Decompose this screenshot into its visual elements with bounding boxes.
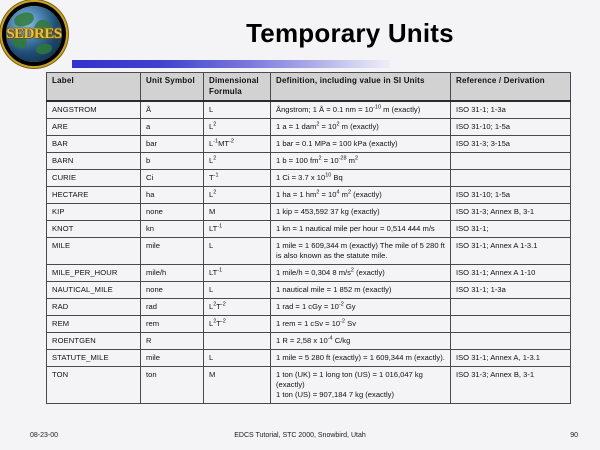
cell-definition: 1 mile = 1 609,344 m (exactly) The mile … [271, 238, 451, 265]
table-header-row: Label Unit Symbol Dimensional Formula De… [47, 73, 571, 102]
cell-definition: 1 rem = 1 cSv = 10-2 Sv [271, 316, 451, 333]
cell-reference: ISO 31-1; Annex A, 1-3.1 [451, 350, 571, 367]
cell-label: REM [47, 316, 141, 333]
cell-reference: ISO 31-10; 1-5a [451, 187, 571, 204]
cell-dimensional-formula: L2 [204, 119, 271, 136]
table-row: STATUTE_MILEmileL1 mile = 5 280 ft (exac… [47, 350, 571, 367]
cell-unit-symbol: ton [141, 367, 204, 404]
cell-definition: 1 bar = 0.1 MPa = 100 kPa (exactly) [271, 136, 451, 153]
table-row: REMremL2T-21 rem = 1 cSv = 10-2 Sv [47, 316, 571, 333]
cell-unit-symbol: R [141, 333, 204, 350]
footer-center-text: EDCS Tutorial, STC 2000, Snowbird, Utah [0, 432, 600, 439]
cell-reference [451, 316, 571, 333]
cell-definition: 1 kip = 453,592 37 kg (exactly) [271, 204, 451, 221]
table-row: NAUTICAL_MILEnoneL1 nautical mile = 1 85… [47, 282, 571, 299]
column-header-definition: Definition, including value in SI Units [271, 73, 451, 102]
cell-dimensional-formula: M [204, 204, 271, 221]
cell-definition: 1 nautical mile = 1 852 m (exactly) [271, 282, 451, 299]
cell-unit-symbol: none [141, 282, 204, 299]
cell-unit-symbol: none [141, 204, 204, 221]
cell-dimensional-formula: L [204, 282, 271, 299]
cell-reference [451, 170, 571, 187]
cell-label: TON [47, 367, 141, 404]
cell-dimensional-formula: L [204, 350, 271, 367]
cell-reference: ISO 31-1; Annex A 1-3.1 [451, 238, 571, 265]
cell-label: ARE [47, 119, 141, 136]
cell-dimensional-formula: M [204, 367, 271, 404]
cell-label: RAD [47, 299, 141, 316]
cell-label: STATUTE_MILE [47, 350, 141, 367]
table-row: HECTAREhaL21 ha = 1 hm2 = 104 m2 (exactl… [47, 187, 571, 204]
cell-definition: 1 a = 1 dam2 = 102 m (exactly) [271, 119, 451, 136]
cell-dimensional-formula: L2 [204, 153, 271, 170]
table-row: AREaL21 a = 1 dam2 = 102 m (exactly)ISO … [47, 119, 571, 136]
logo-text: SEDRES [6, 26, 62, 43]
table-row: BARNbL21 b = 100 fm2 = 10-28 m2 [47, 153, 571, 170]
cell-reference [451, 333, 571, 350]
table-row: ROENTGENR1 R = 2,58 x 10-4 C/kg [47, 333, 571, 350]
title-divider [72, 60, 390, 68]
globe-landmass [35, 43, 52, 56]
table-row: CURIECiT-11 Ci = 3.7 x 1010 Bq [47, 170, 571, 187]
cell-unit-symbol: bar [141, 136, 204, 153]
cell-dimensional-formula: L2T-2 [204, 316, 271, 333]
cell-unit-symbol: rad [141, 299, 204, 316]
cell-reference: ISO 31-1; 1-3a [451, 101, 571, 119]
cell-unit-symbol: ha [141, 187, 204, 204]
cell-dimensional-formula: L-1MT-2 [204, 136, 271, 153]
cell-unit-symbol: Å [141, 101, 204, 119]
slide: SEDRES Temporary Units Label Unit Symbol… [0, 0, 600, 450]
cell-definition: 1 mile/h = 0,304 8 m/s2 (exactly) [271, 265, 451, 282]
table-row: RADradL2T-21 rad = 1 cGy = 10-2 Gy [47, 299, 571, 316]
cell-dimensional-formula: L2 [204, 187, 271, 204]
cell-label: BARN [47, 153, 141, 170]
units-table-wrapper: Label Unit Symbol Dimensional Formula De… [46, 72, 570, 404]
table-row: TONtonM1 ton (UK) = 1 long ton (US) = 1 … [47, 367, 571, 404]
table-row: MILEmileL1 mile = 1 609,344 m (exactly) … [47, 238, 571, 265]
cell-reference [451, 299, 571, 316]
table-row: BARbarL-1MT-21 bar = 0.1 MPa = 100 kPa (… [47, 136, 571, 153]
table-body: ANGSTROMÅLÅngstrom; 1 Å = 0.1 nm = 10-10… [47, 101, 571, 404]
cell-definition: 1 R = 2,58 x 10-4 C/kg [271, 333, 451, 350]
cell-label: KIP [47, 204, 141, 221]
table-row: ANGSTROMÅLÅngstrom; 1 Å = 0.1 nm = 10-10… [47, 101, 571, 119]
cell-dimensional-formula: L2T-2 [204, 299, 271, 316]
cell-unit-symbol: rem [141, 316, 204, 333]
cell-unit-symbol: mile [141, 350, 204, 367]
cell-label: MILE [47, 238, 141, 265]
cell-reference: ISO 31-1; [451, 221, 571, 238]
cell-reference: ISO 31-3; Annex B, 3-1 [451, 204, 571, 221]
cell-unit-symbol: mile [141, 238, 204, 265]
cell-definition: 1 ton (UK) = 1 long ton (US) = 1 016,047… [271, 367, 451, 404]
cell-definition: 1 ha = 1 hm2 = 104 m2 (exactly) [271, 187, 451, 204]
cell-unit-symbol: b [141, 153, 204, 170]
cell-reference: ISO 31-1; Annex A 1-10 [451, 265, 571, 282]
cell-dimensional-formula: L [204, 238, 271, 265]
cell-label: ROENTGEN [47, 333, 141, 350]
cell-label: ANGSTROM [47, 101, 141, 119]
page-title: Temporary Units [150, 18, 550, 49]
cell-label: NAUTICAL_MILE [47, 282, 141, 299]
cell-dimensional-formula [204, 333, 271, 350]
column-header-dimensional-formula: Dimensional Formula [204, 73, 271, 102]
cell-dimensional-formula: LT-1 [204, 265, 271, 282]
column-header-label: Label [47, 73, 141, 102]
cell-definition: 1 mile = 5 280 ft (exactly) = 1 609,344 … [271, 350, 451, 367]
cell-definition: 1 rad = 1 cGy = 10-2 Gy [271, 299, 451, 316]
cell-unit-symbol: Ci [141, 170, 204, 187]
column-header-unit-symbol: Unit Symbol [141, 73, 204, 102]
cell-definition: Ångstrom; 1 Å = 0.1 nm = 10-10 m (exactl… [271, 101, 451, 119]
cell-definition: 1 kn = 1 nautical mile per hour = 0,514 … [271, 221, 451, 238]
footer-page-number: 90 [570, 432, 578, 439]
cell-dimensional-formula: LT-1 [204, 221, 271, 238]
cell-reference [451, 153, 571, 170]
cell-definition: 1 Ci = 3.7 x 1010 Bq [271, 170, 451, 187]
cell-definition: 1 b = 100 fm2 = 10-28 m2 [271, 153, 451, 170]
cell-label: BAR [47, 136, 141, 153]
cell-label: KNOT [47, 221, 141, 238]
cell-label: CURIE [47, 170, 141, 187]
cell-unit-symbol: mile/h [141, 265, 204, 282]
cell-reference: ISO 31-3; Annex B, 3-1 [451, 367, 571, 404]
cell-unit-symbol: a [141, 119, 204, 136]
cell-reference: ISO 31-3; 3-15a [451, 136, 571, 153]
cell-label: MILE_PER_HOUR [47, 265, 141, 282]
globe-logo-icon: SEDRES [6, 6, 62, 62]
cell-reference: ISO 31-1; 1-3a [451, 282, 571, 299]
table-row: KNOTknLT-11 kn = 1 nautical mile per hou… [47, 221, 571, 238]
temporary-units-table: Label Unit Symbol Dimensional Formula De… [46, 72, 571, 404]
cell-label: HECTARE [47, 187, 141, 204]
cell-dimensional-formula: T-1 [204, 170, 271, 187]
cell-dimensional-formula: L [204, 101, 271, 119]
cell-unit-symbol: kn [141, 221, 204, 238]
table-row: KIPnoneM1 kip = 453,592 37 kg (exactly)I… [47, 204, 571, 221]
column-header-reference: Reference / Derivation [451, 73, 571, 102]
slide-footer: 08-23-00 EDCS Tutorial, STC 2000, Snowbi… [0, 432, 600, 446]
table-row: MILE_PER_HOURmile/hLT-11 mile/h = 0,304 … [47, 265, 571, 282]
cell-reference: ISO 31-10; 1-5a [451, 119, 571, 136]
